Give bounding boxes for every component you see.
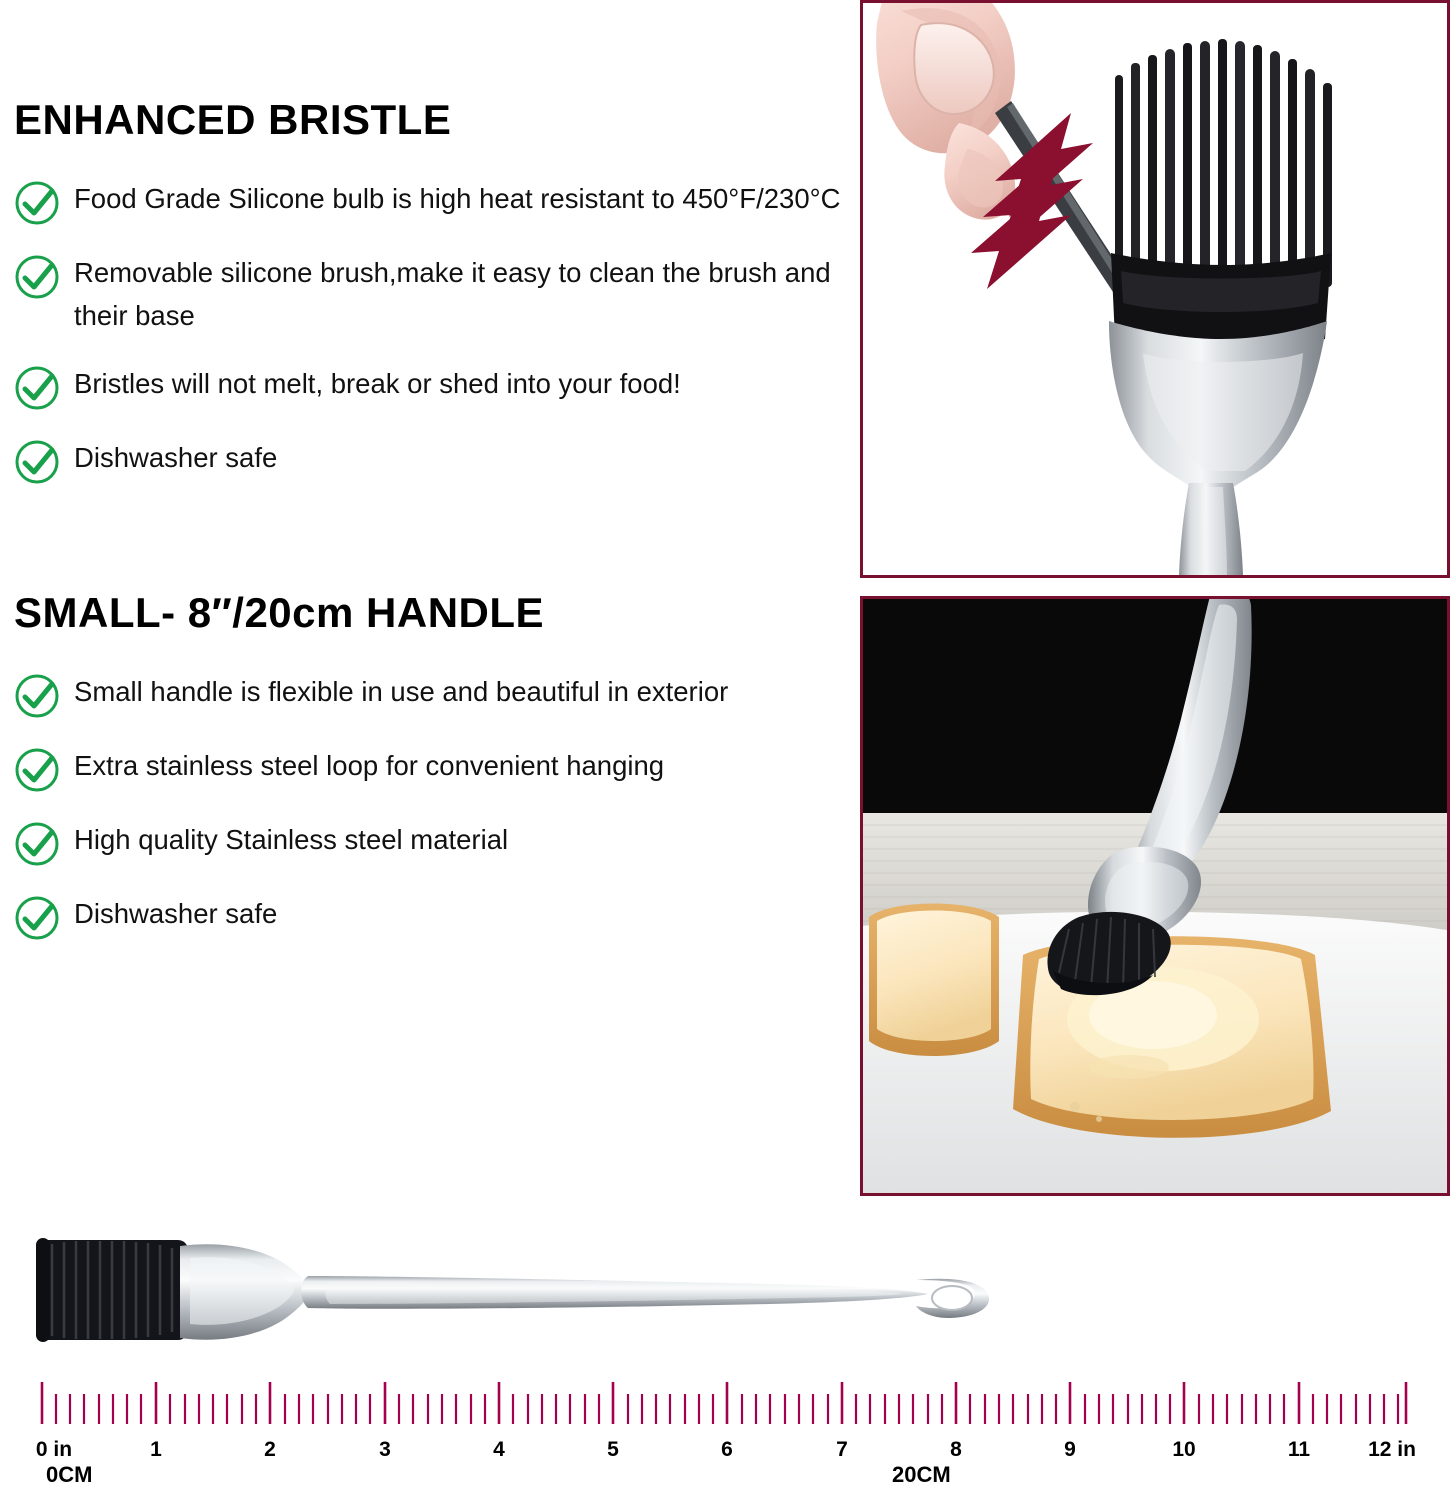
list-item-label: Dishwasher safe bbox=[74, 437, 277, 480]
section-title-handle: SMALL- 8″/20cm HANDLE bbox=[14, 589, 860, 637]
list-item: Small handle is flexible in use and beau… bbox=[14, 671, 860, 719]
ruler-inch-labels: 0 in 1 2 3 4 5 6 7 8 9 10 11 12 in bbox=[40, 1438, 1410, 1464]
ruler-tick-label: 4 bbox=[493, 1438, 505, 1462]
ruler-tick-label: 11 bbox=[1288, 1438, 1310, 1462]
hanging-loop bbox=[916, 1279, 989, 1318]
ruler-tick-label: 9 bbox=[1064, 1438, 1076, 1462]
list-item: Food Grade Silicone bulb is high heat re… bbox=[14, 178, 860, 226]
ruler-tick-label: 6 bbox=[721, 1438, 733, 1462]
ruler-tick-label: 0 in bbox=[36, 1438, 72, 1462]
check-circle-icon bbox=[14, 673, 60, 719]
list-item: Bristles will not melt, break or shed in… bbox=[14, 363, 860, 411]
ruler-tick-label: 5 bbox=[607, 1438, 619, 1462]
cm-marker-0: 0CM bbox=[46, 1462, 92, 1488]
ruler-tick-label: 1 bbox=[150, 1438, 162, 1462]
steel-base bbox=[180, 1244, 312, 1340]
feature-list-enhanced-bristle: Food Grade Silicone bulb is high heat re… bbox=[14, 178, 860, 485]
features-column: ENHANCED BRISTLE Food Grade Silicone bul… bbox=[0, 0, 860, 1200]
cm-marker-20: 20CM bbox=[892, 1462, 951, 1488]
ruler bbox=[40, 1378, 1410, 1438]
section-spacer bbox=[14, 511, 860, 589]
list-item: Dishwasher safe bbox=[14, 893, 860, 941]
list-item: Removable silicone brush,make it easy to… bbox=[14, 252, 860, 337]
photo-brush-head-removal bbox=[860, 0, 1450, 578]
check-circle-icon bbox=[14, 821, 60, 867]
check-circle-icon bbox=[14, 747, 60, 793]
ruler-tick-label: 7 bbox=[836, 1438, 848, 1462]
product-with-ruler: 0 in 1 2 3 4 5 6 7 8 9 10 11 12 in 0CM 2… bbox=[0, 1200, 1454, 1481]
handle bbox=[301, 1276, 928, 1309]
ruler-cm-labels: 0CM 20CM bbox=[40, 1462, 1410, 1488]
photo-top-artwork bbox=[863, 3, 1447, 575]
photo-brush-buttering-toast bbox=[860, 596, 1450, 1196]
check-circle-icon bbox=[14, 365, 60, 411]
silicone-basting-brush bbox=[30, 1218, 1000, 1368]
list-item: Extra stainless steel loop for convenien… bbox=[14, 745, 860, 793]
list-item: High quality Stainless steel material bbox=[14, 819, 860, 867]
list-item-label: Extra stainless steel loop for convenien… bbox=[74, 745, 664, 788]
check-circle-icon bbox=[14, 180, 60, 226]
feature-list-small-handle: Small handle is flexible in use and beau… bbox=[14, 671, 860, 941]
bristle-head bbox=[36, 1238, 188, 1342]
list-item: Dishwasher safe bbox=[14, 437, 860, 485]
check-circle-icon bbox=[14, 895, 60, 941]
list-item-label: Removable silicone brush,make it easy to… bbox=[74, 252, 860, 337]
ruler-tick-label: 10 bbox=[1172, 1438, 1195, 1462]
ruler-tick-label: 8 bbox=[950, 1438, 962, 1462]
list-item-label: Food Grade Silicone bulb is high heat re… bbox=[74, 178, 840, 221]
list-item-label: Bristles will not melt, break or shed in… bbox=[74, 363, 681, 406]
ruler-tick-label: 2 bbox=[264, 1438, 276, 1462]
check-circle-icon bbox=[14, 254, 60, 300]
photo-bottom-artwork bbox=[863, 599, 1447, 1193]
list-item-label: Small handle is flexible in use and beau… bbox=[74, 671, 728, 714]
page-title: ENHANCED BRISTLE bbox=[14, 96, 860, 144]
list-item-label: Dishwasher safe bbox=[74, 893, 277, 936]
ruler-tick-label: 3 bbox=[379, 1438, 391, 1462]
ruler-tick-label: 12 in bbox=[1368, 1438, 1416, 1462]
toast-slice-back bbox=[869, 904, 999, 1057]
check-circle-icon bbox=[14, 439, 60, 485]
list-item-label: High quality Stainless steel material bbox=[74, 819, 508, 862]
